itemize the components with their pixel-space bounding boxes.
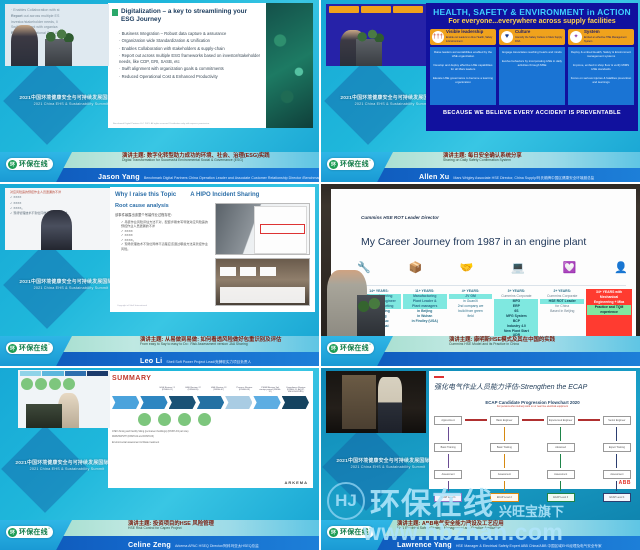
callout: Compliance Review (DNSH-11, AQCP, SMGCHS… — [284, 387, 307, 393]
video-panel-1[interactable]: 2021中国环境健康安全与可持续发展国际峰会2021 China EHS & S… — [0, 0, 319, 182]
speaker-camera-6 — [326, 371, 426, 433]
callout: HSE Review #3 (DNSH-07) — [207, 387, 230, 393]
slide-surface-1: Digitalization – a key to streamlining y… — [108, 3, 313, 128]
info-bar-1: 环 环保在线 * 演讲主题: 数字化转型助力成功的环境、社会、治理(ESG)实践… — [0, 152, 319, 182]
info-bar-6: 环 环保在线 * 演讲主题: ABB电气安全能力建设及工艺应用 No.1 Ele… — [321, 520, 640, 550]
slide-surface-5: SUMMARY HSE Review #1 (DNSH-01) HSE Revi… — [108, 371, 313, 488]
slide-bullet-list-3: ✓ 吊装作业风险评估方法不对，配套步骤未写导致对应风险露的预控作业人员遗漏的不详… — [115, 220, 210, 251]
pillar-column: ✦ System Embed an effective HSE Manageme… — [568, 29, 634, 105]
site-logo-6[interactable]: 环 环保在线 * — [327, 526, 374, 538]
speaker-figure-4 — [323, 270, 405, 336]
pillar-column: ♥ Culture Intensify the Safety Culture i… — [499, 29, 565, 105]
site-logo-3[interactable]: 环 环保在线 * — [6, 342, 53, 354]
list-item: · Reduced Operational Cost & Enhanced Pr… — [119, 74, 262, 79]
list-item: · Business Integration – Robust data cap… — [119, 31, 262, 36]
circle-leaf-icon: 环 — [329, 528, 338, 537]
flowers-2 — [352, 29, 386, 43]
video-panel-6[interactable]: 2021中国环境健康安全与可持续发展国际峰会2021 China EHS & S… — [321, 368, 640, 550]
star-icon: * — [48, 342, 50, 347]
info-bar-4: 环 环保在线 * 演讲主题: 康明斯HSE模式及其在中国的实践 Cummins … — [321, 336, 640, 366]
topic-text-5: 演讲主题: 投资项目的HSE 风险管理 HSE Risk Control for… — [128, 521, 214, 531]
stage-dots-5 — [112, 413, 309, 426]
slide-surface-2: HEALTH, SAFETY & ENVIRONMENT in ACTION F… — [426, 3, 638, 131]
pillar-column: ††† Visible leadership Enable our leader… — [430, 29, 496, 105]
circle-leaf-icon: 环 — [8, 160, 17, 169]
slide-surface-3: Why I raise this Topic A HIPO Incident S… — [110, 187, 315, 312]
info-bar-2: 环 环保在线 * 演讲主题: 每日安全确认系统分享 Sharing on Dai… — [321, 152, 640, 182]
flowchart-columns-6: Apprentice A Basic Training Assessment E… — [434, 416, 631, 502]
list-item: ✓ 现场管理技术不到位同样不清楚应该通过哪些方法来管控作业风险。 — [121, 242, 210, 251]
flow-column: Basic Engineer Basic Training Assessment… — [490, 416, 518, 502]
star-icon: * — [369, 158, 371, 163]
callout: Process Review (DNSH-08) — [233, 387, 256, 393]
milestone: 3+ YEARS: Cummins Corporate MFG ERP 6S M… — [494, 289, 538, 338]
pillar-item: Engage Associates reaching hearts and mi… — [501, 50, 563, 54]
speaker-figure-3 — [41, 210, 73, 250]
pillar-item: Elevate HSE governance to become a learn… — [432, 76, 494, 85]
slide-footer-2: BECAUSE WE BELIEVE EVERY ACCIDENT IS PRE… — [430, 110, 634, 116]
slide-footnote-1: Benchmark Digital Partners LLC 2021. All… — [113, 123, 210, 125]
slide-section-3: Root cause analysis — [115, 203, 210, 209]
podium-2 — [356, 39, 382, 66]
incident-photo-top-3 — [215, 203, 310, 255]
speaker-camera-3: 对应风险露的预控作业人员遗漏的不详 ✓ XXXX ✓ XXXX ✓ XXXX。 … — [5, 188, 110, 250]
video-thumbnail-grid: 2021中国环境健康安全与可持续发展国际峰会2021 China EHS & S… — [0, 0, 640, 550]
incident-photo-bottom-3 — [215, 258, 310, 306]
slide-brand-6: ABB — [619, 480, 631, 486]
slide-title2-3: A HIPO Incident Sharing — [190, 192, 259, 198]
video-panel-5[interactable]: 2021中国环境健康安全与可持续发展国际峰会2021 China EHS & S… — [0, 368, 319, 550]
video-panel-4[interactable]: Cummins HSE ROT Leader Director My Caree… — [321, 184, 640, 366]
process-chevrons-5 — [112, 396, 309, 409]
site-logo-label-4: 环保在线 — [340, 343, 369, 353]
speaker-camera-5 — [18, 370, 110, 428]
pillar-item: Raise leaders accountabilities enabled b… — [432, 50, 494, 59]
site-logo-4[interactable]: 环 环保在线 * — [327, 342, 374, 354]
notes-5: ATEX Zoning and Facility Siting (permane… — [112, 430, 309, 446]
person-badge-icon: 👤 — [614, 261, 628, 274]
pillar-item: Deploy & embed Health, Safety & Environm… — [570, 50, 632, 59]
speaker-text-6: Lawrence Yang HSE Manager & Electrical S… — [397, 540, 602, 549]
star-icon: * — [369, 526, 371, 531]
slide-title-5: SUMMARY — [112, 375, 309, 382]
site-logo-label-6: 环保在线 — [340, 527, 369, 537]
circle-leaf-icon: 环 — [8, 528, 17, 537]
speaker-text-5: Celine Zeng Arkema APAC HSEQ Director/阿科… — [128, 540, 259, 549]
topic-text-4: 演讲主题: 康明斯HSE模式及其在中国的实践 Cummins HSE Model… — [449, 337, 555, 347]
milestone: 4+ YEARS: JV GM in GuanXi 2nd company we… — [449, 289, 493, 338]
flow-column: Senior Engineer Expert Training Assessme… — [603, 416, 631, 502]
speaker-text-2: Allen Xu Mars Wrigley Associate HSE Dire… — [419, 172, 594, 181]
slide-bullet-list-1: · Business Integration – Robust data cap… — [112, 31, 262, 79]
flow-column: Experienced Engineer Advanced Assessment… — [547, 416, 575, 502]
topic-text-6: 演讲主题: ABB电气安全能力建设及工艺应用 No.1 Electrical S… — [397, 521, 504, 531]
flow-column: Apprentice A Basic Training Assessment E… — [434, 416, 462, 502]
network-nodes-graphic — [266, 3, 313, 128]
slide-eyebrow-4: Cummins HSE ROT Leader Director — [361, 215, 439, 221]
document-list-icon — [112, 9, 118, 16]
slide-subtitle2-6: For persons who routinely work on or nea… — [434, 405, 631, 408]
site-logo-2[interactable]: 环 环保在线 * — [327, 158, 374, 170]
site-logo-label-2: 环保在线 — [340, 159, 369, 169]
slide-title-2: HEALTH, SAFETY & ENVIRONMENT in ACTION — [430, 7, 634, 17]
speaker-text-1: Jason Yang Benchmark Digital Partners Ch… — [98, 172, 319, 181]
people-group-icon: ††† — [432, 31, 444, 43]
site-logo-label-3: 环保在线 — [19, 343, 48, 353]
pillar-item: Focus on serious injuries & fatalities p… — [570, 76, 632, 85]
speaker-camera-2 — [326, 4, 426, 66]
slide-brand-5: ARKEMA — [284, 480, 308, 485]
info-bar-3: 环 环保在线 * 演讲主题: 从易做到易做: 如何看透风险做好包重识别及评估 F… — [0, 336, 319, 366]
list-item: · Organization wide Standardization & Un… — [119, 38, 262, 43]
speaker-camera-1: · Enables Collaboration with st Report o… — [5, 4, 109, 66]
callout: PSSR/Review 3rd startup period (DNSH-12) — [259, 387, 282, 393]
site-logo-label-5: 环保在线 — [19, 527, 48, 537]
topic-text-3: 演讲主题: 从易做到易做: 如何看透风险做好包重识别及评估 From easy … — [140, 337, 281, 347]
speaker-figure-1 — [11, 25, 38, 66]
callout-row-5: HSE Review #1 (DNSH-01) HSE Review #2 (D… — [156, 387, 307, 393]
star-icon: * — [48, 526, 50, 531]
list-item: ✓ 吊装作业风险评估方法不对，配套步骤未写导致对应风险露的预控作业人员遗漏的不详 — [121, 220, 210, 229]
slide-title-4: My Career Journey from 1987 in an engine… — [361, 236, 586, 248]
list-item: · Swift alignment with organization goal… — [119, 66, 262, 71]
site-logo-5[interactable]: 环 环保在线 * — [6, 526, 53, 538]
slide-subtitle-2: For everyone...everywhere across supply … — [430, 18, 634, 25]
flowers-1 — [40, 29, 75, 43]
callout: HSE Review #1 (DNSH-01) — [156, 387, 179, 393]
circle-leaf-icon: 环 — [329, 344, 338, 353]
info-bar-5: 环 环保在线 * 演讲主题: 投资项目的HSE 风险管理 HSE Risk Co… — [0, 520, 319, 550]
heart-pulse-icon: 💟 — [563, 261, 577, 274]
circle-leaf-icon: 环 — [329, 160, 338, 169]
laptop-icon: 💻 — [511, 261, 525, 274]
star-icon: * — [369, 342, 371, 347]
pillar-columns-2: ††† Visible leadership Enable our leader… — [430, 29, 634, 105]
milestone: 2+ YEARS: Cummins Corporate HSE ROT Lead… — [540, 289, 584, 338]
milestone-highlight: 34+ YEARS with Mechanical Engineering + … — [586, 289, 632, 338]
pillar-item: Evolve behaviors by incorporating HSE in… — [501, 59, 563, 68]
slide-title-6: 强化电气作业人员能力评估-Strengthen the ECAP — [434, 382, 631, 392]
slide-title-3: Why I raise this Topic — [115, 192, 176, 198]
pillar-item: Develop and deploy effective HSE capabil… — [432, 63, 494, 72]
site-logo-label-1: 环保在线 — [19, 159, 48, 169]
list-item: · Report out across multiple ESG framewo… — [119, 53, 262, 64]
topic-text-2: 演讲主题: 每日安全确认系统分享 Sharing on Daily Safety… — [443, 153, 522, 163]
speaker-figure-6 — [378, 377, 402, 433]
milestone: 11+ YEARS: Manufacturing Plant Leader & … — [403, 289, 447, 338]
slide-footnote-3: Copyright of Shell International — [117, 305, 147, 307]
note: Environmental assessment & Waste treatme… — [112, 441, 309, 446]
box-icon: 📦 — [408, 261, 422, 274]
handshake-icon: 🤝 — [460, 261, 474, 274]
star-icon: * — [48, 158, 50, 163]
site-logo-1[interactable]: 环 环保在线 * — [6, 158, 53, 170]
video-panel-3[interactable]: 2021中国环境健康安全与可持续发展国际峰会2021 China EHS & S… — [0, 184, 319, 366]
podium-1 — [45, 39, 72, 66]
list-item: · Enables Collaboration with stakeholder… — [119, 46, 262, 51]
slide-intro-3: 该事件暴露出该整个吊装作业过程存在： — [115, 212, 210, 217]
topic-text-1: 演讲主题: 数字化转型助力成功的环境、社会、治理(ESG)实践 Digital … — [122, 153, 270, 163]
pillar-item: Improve, embed in shop floor & verify MI… — [570, 63, 632, 72]
slide-title-1: Digitalization – a key to streamlining y… — [121, 8, 262, 24]
callout: HSE Review #2 (DNSH-05) — [182, 387, 205, 393]
speaker-text-3: Leo Li Shell Soft Power Project Lead/壳牌软… — [140, 356, 251, 365]
slide-surface-6: 强化电气作业人员能力评估-Strengthen the ECAP ECAP Ca… — [429, 371, 636, 489]
video-panel-2[interactable]: 2021中国环境健康安全与可持续发展国际峰会2021 China EHS & S… — [321, 0, 640, 182]
circle-leaf-icon: 环 — [8, 344, 17, 353]
heart-shield-icon: ♥ — [501, 31, 513, 43]
gear-system-icon: ✦ — [570, 31, 582, 43]
